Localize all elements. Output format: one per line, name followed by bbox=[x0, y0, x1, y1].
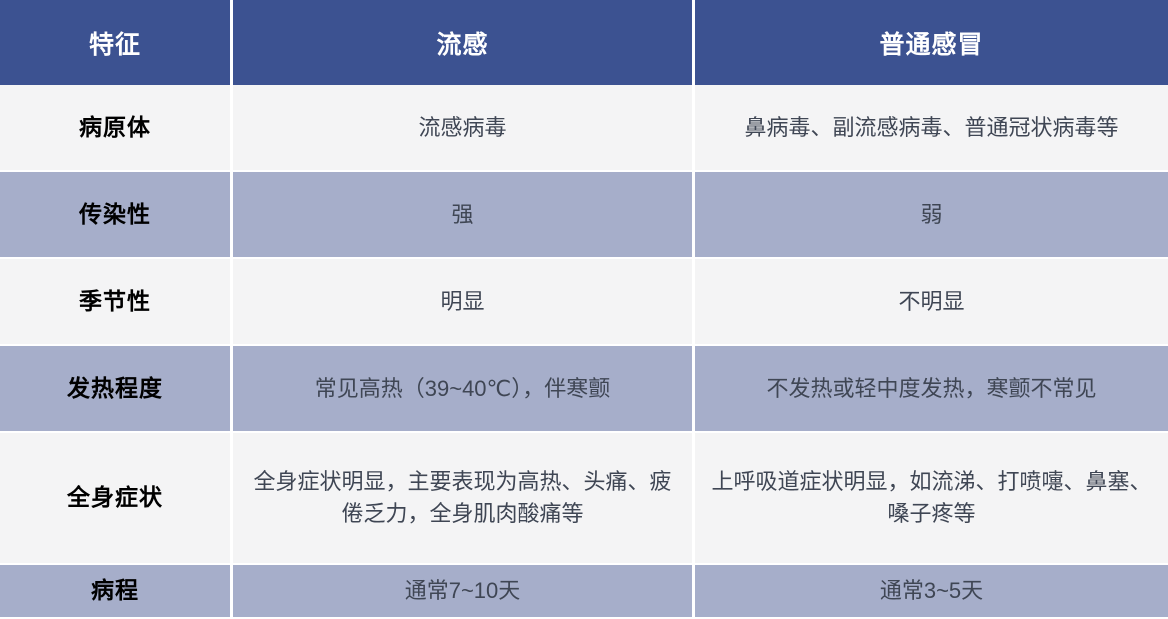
row-label-seasonality: 季节性 bbox=[0, 259, 233, 346]
table-row: 病程 通常7~10天 通常3~5天 bbox=[0, 565, 1168, 619]
column-header-feature: 特征 bbox=[0, 0, 233, 85]
table-row: 季节性 明显 不明显 bbox=[0, 259, 1168, 346]
cell-influenza-pathogen: 流感病毒 bbox=[233, 85, 695, 172]
table-row: 发热程度 常见高热（39~40℃），伴寒颤 不发热或轻中度发热，寒颤不常见 bbox=[0, 346, 1168, 433]
cell-influenza-seasonality: 明显 bbox=[233, 259, 695, 346]
cell-cold-course-of-disease: 通常3~5天 bbox=[695, 565, 1168, 619]
table-row: 病原体 流感病毒 鼻病毒、副流感病毒、普通冠状病毒等 bbox=[0, 85, 1168, 172]
cell-cold-pathogen: 鼻病毒、副流感病毒、普通冠状病毒等 bbox=[695, 85, 1168, 172]
cell-influenza-fever-degree: 常见高热（39~40℃），伴寒颤 bbox=[233, 346, 695, 433]
flu-vs-cold-comparison-table: 特征 流感 普通感冒 病原体 流感病毒 鼻病毒、副流感病毒、普通冠状病毒等 传染… bbox=[0, 0, 1168, 619]
column-header-influenza: 流感 bbox=[233, 0, 695, 85]
cell-influenza-contagiousness: 强 bbox=[233, 172, 695, 259]
table-header: 特征 流感 普通感冒 bbox=[0, 0, 1168, 85]
cell-cold-fever-degree: 不发热或轻中度发热，寒颤不常见 bbox=[695, 346, 1168, 433]
cell-cold-seasonality: 不明显 bbox=[695, 259, 1168, 346]
header-row: 特征 流感 普通感冒 bbox=[0, 0, 1168, 85]
row-label-fever-degree: 发热程度 bbox=[0, 346, 233, 433]
cell-cold-systemic-symptoms: 上呼吸道症状明显，如流涕、打喷嚏、鼻塞、嗓子疼等 bbox=[695, 433, 1168, 565]
row-label-systemic-symptoms: 全身症状 bbox=[0, 433, 233, 565]
column-header-common-cold: 普通感冒 bbox=[695, 0, 1168, 85]
cell-cold-contagiousness: 弱 bbox=[695, 172, 1168, 259]
row-label-contagiousness: 传染性 bbox=[0, 172, 233, 259]
table-body: 病原体 流感病毒 鼻病毒、副流感病毒、普通冠状病毒等 传染性 强 弱 季节性 明… bbox=[0, 85, 1168, 619]
table-row: 传染性 强 弱 bbox=[0, 172, 1168, 259]
cell-influenza-course-of-disease: 通常7~10天 bbox=[233, 565, 695, 619]
row-label-course-of-disease: 病程 bbox=[0, 565, 233, 619]
table-row: 全身症状 全身症状明显，主要表现为高热、头痛、疲倦乏力，全身肌肉酸痛等 上呼吸道… bbox=[0, 433, 1168, 565]
cell-influenza-systemic-symptoms: 全身症状明显，主要表现为高热、头痛、疲倦乏力，全身肌肉酸痛等 bbox=[233, 433, 695, 565]
row-label-pathogen: 病原体 bbox=[0, 85, 233, 172]
